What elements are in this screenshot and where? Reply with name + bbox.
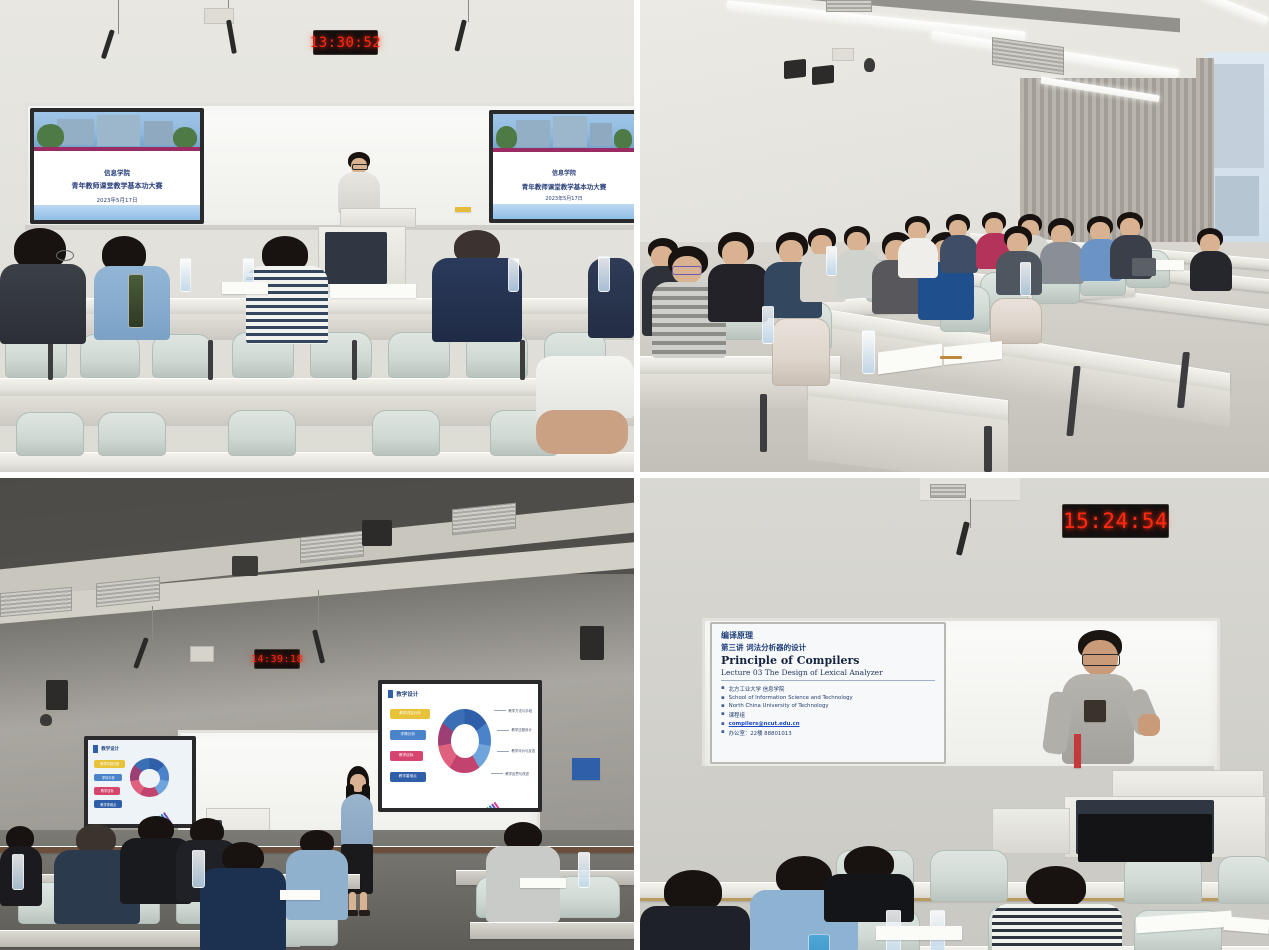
- slide-bullet-link[interactable]: ▪ compilers@ncut.edu.cn: [721, 721, 935, 727]
- desk-leg: [984, 426, 992, 472]
- audience-member: [708, 232, 768, 318]
- window-curtain: [1196, 58, 1214, 254]
- audience-member: [200, 842, 286, 948]
- equipment-box: [1132, 258, 1156, 276]
- projector-screen-left: 信息学院 青年教师课堂教学基本功大赛 2023年5月17日: [30, 108, 204, 224]
- handout-paper: [1154, 260, 1184, 270]
- thermos-bottle: [128, 274, 144, 328]
- slide-bullet-text: School of Information Science and Techno…: [729, 695, 853, 701]
- donut-tag: 学情分析: [94, 774, 122, 782]
- water-bottle: [826, 246, 837, 276]
- slide-donut-header: 教学设计: [101, 746, 119, 752]
- slide-title: 青年教师课堂教学基本功大赛: [72, 181, 163, 191]
- clock-time: 14:39:18: [251, 654, 303, 665]
- slide-header-photo: [493, 114, 634, 152]
- slide-bullet-text: 北方工业大学 信息学院: [729, 685, 785, 693]
- desk-leg: [352, 340, 357, 380]
- chair: [772, 318, 830, 386]
- audience-member: [286, 830, 348, 916]
- audience-member: [996, 226, 1042, 292]
- security-camera: [40, 714, 52, 726]
- mic-cable: [228, 0, 229, 8]
- projector: [362, 520, 392, 546]
- chair: [372, 410, 440, 456]
- window: [1206, 52, 1269, 252]
- attendee: [992, 866, 1122, 950]
- audience-member: [1040, 218, 1084, 280]
- donut-callout-text: 教学评价与反态: [511, 749, 535, 753]
- slide-title-zh: 编译原理: [721, 630, 935, 641]
- chair: [98, 412, 166, 456]
- slide-subtitle-en: Lecture 03 The Design of Lexical Analyze…: [721, 668, 935, 677]
- bullet-dot-icon: ▪: [721, 695, 725, 701]
- presenter-hand: [1138, 714, 1160, 736]
- slide-subtitle-zh: 第三讲 词法分析器的设计: [721, 642, 935, 653]
- audience-member: [940, 214, 978, 270]
- slide-donut-header: 教学设计: [396, 690, 418, 698]
- mic-cable: [152, 606, 153, 642]
- slide-donut-left: 教学设计 教学内容分析 学情分析 教学目标 教学重难点: [88, 740, 192, 824]
- slide-bullet: ▪ School of Information Science and Tech…: [721, 695, 935, 701]
- attendee: [0, 228, 86, 340]
- slide-bullet-marker: [388, 690, 393, 698]
- handout-paper: [280, 890, 320, 900]
- slide-competition-right: 信息学院 青年教师课堂教学基本功大赛 2023年5月17日: [493, 114, 634, 219]
- audience-member: [1190, 228, 1232, 286]
- clock-time: 13:30:52: [310, 35, 381, 51]
- projected-slide-area: 编译原理 第三讲 词法分析器的设计 Principle of Compilers…: [710, 622, 946, 764]
- projector: [232, 556, 258, 576]
- attendee: [588, 238, 634, 336]
- handout-paper: [330, 284, 416, 298]
- slide-bullet-text: 课程组: [729, 711, 745, 719]
- lectern: [340, 208, 416, 228]
- donut-tag: 教学内容分析: [390, 709, 431, 719]
- donut-callout-text: 教学反思与改进: [505, 772, 529, 776]
- wall-sensor: [190, 646, 214, 662]
- male-presenter: [1040, 630, 1158, 780]
- ceiling-vent: [826, 0, 872, 12]
- slide-bullet-link-text[interactable]: compilers@ncut.edu.cn: [729, 721, 800, 727]
- desk-leg: [520, 340, 525, 380]
- wall-speaker: [46, 680, 68, 710]
- slide-divider: [721, 680, 935, 681]
- water-bottle: [578, 852, 590, 888]
- water-bottle: [1020, 262, 1031, 296]
- donut-tag: 教学重难点: [390, 772, 426, 782]
- console-monitor-screen: [1078, 814, 1212, 862]
- pen: [940, 356, 962, 359]
- bullet-dot-icon: ▪: [721, 711, 725, 717]
- slide-competition-left: 信息学院 青年教师课堂教学基本功大赛 2023年5月17日: [34, 112, 200, 220]
- donut-tag: 教学重难点: [94, 800, 122, 808]
- handout-paper: [876, 926, 962, 940]
- photo-panel-top-left: 13:30:52: [0, 0, 634, 472]
- slide-header-photo: [34, 112, 200, 151]
- chair: [228, 410, 296, 456]
- clock-time: 15:24:54: [1063, 509, 1168, 533]
- donut-tag: 学情分析: [390, 730, 426, 740]
- wall-sensor: [832, 48, 854, 61]
- donut-callout: 教学过程设计: [497, 727, 531, 732]
- mic-cable: [468, 0, 469, 22]
- slide-bullet-text: 办公室：22楼 88801013: [729, 729, 792, 737]
- digital-wall-clock: 13:30:52: [313, 30, 378, 55]
- console-monitor: [325, 232, 387, 284]
- digital-wall-clock: 15:24:54: [1062, 504, 1169, 538]
- attendee: [824, 846, 914, 916]
- donut-hole: [139, 769, 160, 788]
- donut-tag: 教学目标: [390, 751, 423, 761]
- handout-paper: [222, 282, 268, 294]
- water-bottle: [12, 854, 24, 890]
- attendee-foreground: [536, 356, 634, 472]
- water-bottle: [508, 258, 519, 292]
- lanyard: [1074, 734, 1081, 768]
- ceiling-vent: [930, 484, 966, 498]
- photo-panel-top-right: [640, 0, 1269, 472]
- chair: [80, 334, 140, 378]
- slide-title-en: Principle of Compilers: [721, 654, 935, 667]
- donut-callout-text: 教学方法与手段: [508, 709, 532, 713]
- slide-bullet: ▪ North China University of Technology: [721, 703, 935, 709]
- water-bottle: [598, 256, 610, 292]
- console-side-panel: [992, 808, 1070, 854]
- chair: [1218, 856, 1269, 904]
- bullet-dot-icon: ▪: [721, 729, 725, 735]
- mic-cable: [118, 0, 119, 34]
- wall-speaker: [812, 65, 834, 85]
- shirt-graphic: [1084, 700, 1106, 722]
- chair: [990, 298, 1042, 344]
- bullet-dot-icon: ▪: [721, 685, 725, 691]
- slide-date: 2023年5月17日: [97, 196, 138, 204]
- water-bottle: [762, 306, 774, 344]
- desk-leg: [208, 340, 213, 380]
- handout-paper: [520, 878, 566, 888]
- wall-notice-sign: [572, 758, 600, 780]
- donut-tag: 教学目标: [94, 787, 120, 795]
- attendee: [640, 870, 750, 950]
- desk-row-right: [470, 922, 634, 939]
- chair: [16, 412, 84, 456]
- slide-org: 信息学院: [552, 168, 576, 177]
- mic-cable: [318, 590, 319, 636]
- audience-member: [898, 216, 938, 274]
- bullet-dot-icon: ▪: [721, 721, 725, 727]
- donut-callout: 教学反思与改进: [491, 771, 529, 776]
- slide-bullet-text: North China University of Technology: [729, 703, 829, 709]
- donut-callout: 教学评价与反态: [497, 748, 535, 753]
- photo-panel-bottom-left: 14:39:18 教学设计 教学内容分析 学情分析 教学目标: [0, 478, 634, 950]
- desk-marker: [455, 207, 471, 212]
- slide-date: 2023年5月17日: [545, 195, 582, 202]
- slide-donut-right: 教学设计 教学内容分析 学情分析 教学目标 教学重难点 教学方法与手段 教学过程…: [382, 684, 538, 808]
- slide-bullet-marker: [93, 745, 98, 753]
- digital-wall-clock: 14:39:18: [254, 649, 300, 669]
- speaker-at-podium: [336, 152, 382, 214]
- projector-screen-right: 教学设计 教学内容分析 学情分析 教学目标 教学重难点 教学方法与手段 教学过程…: [378, 680, 542, 812]
- donut-hole: [451, 724, 479, 759]
- slide-compilers: 编译原理 第三讲 词法分析器的设计 Principle of Compilers…: [712, 624, 944, 762]
- photo-collage: 13:30:52: [0, 0, 1269, 950]
- wall-speaker: [580, 626, 604, 660]
- photo-panel-bottom-right: 15:24:54 编译原理 第三讲 词法分析器的设计 Principle of …: [640, 478, 1269, 950]
- water-bottle: [862, 330, 875, 374]
- projector-screen-right: 信息学院 青年教师课堂教学基本功大赛 2023年5月17日: [489, 110, 634, 223]
- sports-bottle: [808, 934, 830, 950]
- water-bottle: [192, 850, 205, 888]
- audience-member: [486, 822, 560, 918]
- mic-cable: [970, 498, 971, 528]
- donut-callout: 教学方法与手段: [494, 708, 532, 713]
- donut-tag: 教学内容分析: [94, 760, 125, 768]
- projector-screen-left: 教学设计 教学内容分析 学情分析 教学目标 教学重难点: [84, 736, 196, 828]
- wall-speaker: [784, 59, 806, 79]
- desk-leg: [48, 340, 53, 380]
- slide-bullet: ▪ 课程组: [721, 711, 935, 719]
- desk-leg: [760, 394, 767, 452]
- donut-callout-text: 教学过程设计: [511, 728, 531, 732]
- bullet-dot-icon: ▪: [721, 703, 725, 709]
- slide-bullet: ▪ 办公室：22楼 88801013: [721, 729, 935, 737]
- water-bottle: [180, 258, 191, 292]
- slide-bullet: ▪ 北方工业大学 信息学院: [721, 685, 935, 693]
- slide-org: 信息学院: [104, 167, 130, 177]
- chair: [152, 334, 212, 378]
- security-camera: [864, 58, 875, 72]
- slide-title: 青年教师课堂教学基本功大赛: [522, 181, 607, 191]
